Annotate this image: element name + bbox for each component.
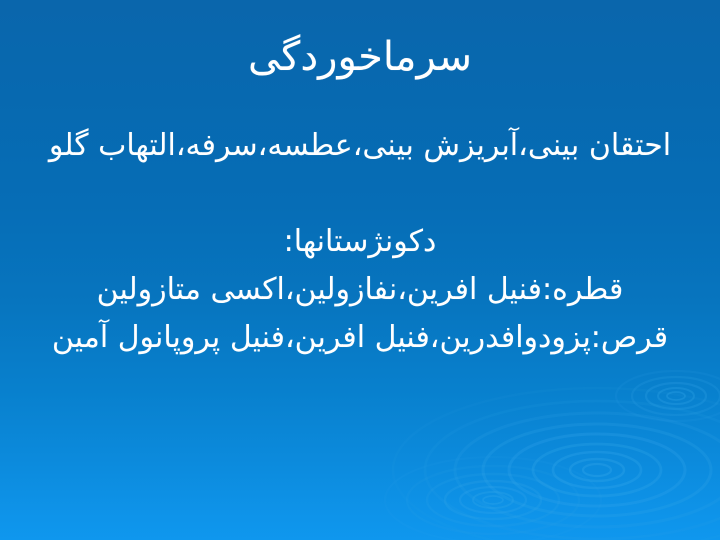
body-line-tablets: قرص:پزودوافدرین،فنیل افرین،فنیل پروپانول… bbox=[14, 314, 706, 362]
body-line-decongestants-heading: دکونژستانها: bbox=[14, 218, 706, 266]
body-line-symptoms: احتقان بینی،آبریزش بینی،عطسه،سرفه،التهاب… bbox=[14, 122, 706, 170]
page-title: سرماخوردگی bbox=[54, 34, 666, 80]
water-ripple-large bbox=[393, 388, 720, 540]
slide-title-placeholder: سرماخوردگی bbox=[54, 34, 666, 80]
slide-body-placeholder: احتقان بینی،آبریزش بینی،عطسه،سرفه،التهاب… bbox=[14, 122, 706, 362]
presentation-slide: سرماخوردگی احتقان بینی،آبریزش بینی،عطسه،… bbox=[0, 0, 720, 540]
body-line-blank bbox=[14, 172, 706, 216]
water-ripple-corner bbox=[616, 371, 720, 421]
body-line-drops: قطره:فنیل افرین،نفازولین،اکسی متازولین bbox=[14, 266, 706, 314]
water-ripple-small bbox=[385, 457, 601, 540]
